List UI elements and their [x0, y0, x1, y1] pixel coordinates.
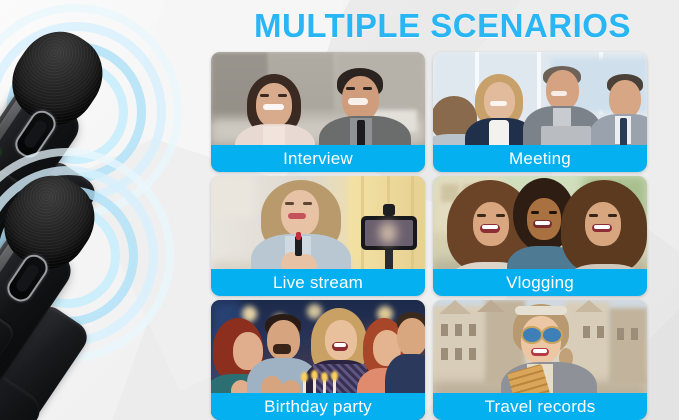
scenario-card-interview[interactable]: Interview — [211, 52, 425, 172]
scenario-label: Vlogging — [433, 269, 647, 296]
scenario-card-vlogging[interactable]: Vlogging — [433, 176, 647, 296]
scenario-card-live-stream[interactable]: Live stream — [211, 176, 425, 296]
scenario-card-meeting[interactable]: Meeting — [433, 52, 647, 172]
scenario-label: Interview — [211, 145, 425, 172]
scenario-grid: Interview — [211, 52, 679, 420]
microphone-product-2 — [0, 152, 224, 412]
scenario-label: Live stream — [211, 269, 425, 296]
scenario-label: Meeting — [433, 145, 647, 172]
product-marketing-image: MULTIPLE SCENARIOS — [0, 0, 679, 420]
scenario-label: Birthday party — [211, 393, 425, 420]
scenario-card-birthday-party[interactable]: Birthday party — [211, 300, 425, 420]
page-title: MULTIPLE SCENARIOS — [206, 4, 679, 48]
scenario-card-travel-records[interactable]: Travel records — [433, 300, 647, 420]
scenario-label: Travel records — [433, 393, 647, 420]
